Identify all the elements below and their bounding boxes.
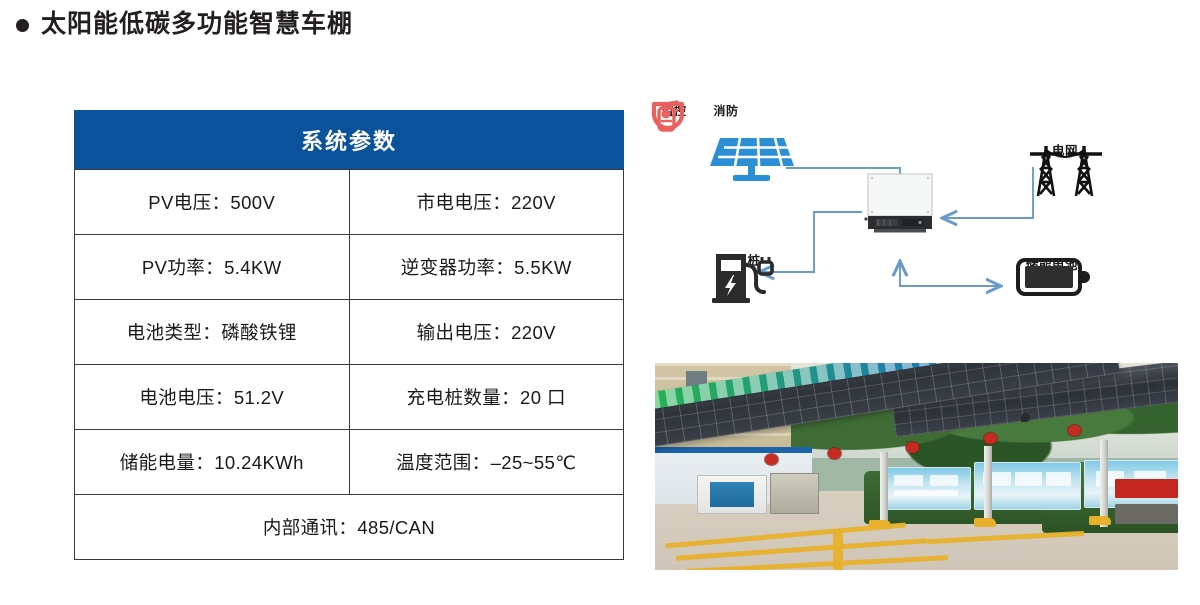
diagram-node-grid: 电网: [1020, 138, 1110, 159]
inverter-cabinet-icon: [860, 172, 940, 238]
solar-panel-icon: [702, 132, 802, 188]
fire-extinguisher-icon: [650, 100, 686, 132]
photo-post: [984, 446, 992, 525]
page-title-text: 太阳能低碳多功能智慧车棚: [41, 12, 353, 37]
ev-charging-pile-icon: [698, 248, 784, 306]
param-pv-voltage: PV电压：500V: [75, 170, 350, 235]
solar-carport-photo: [655, 363, 1178, 570]
photo-post: [1100, 440, 1108, 527]
param-output-voltage: 输出电压：220V: [349, 300, 624, 365]
photo-wall-trim: [655, 447, 812, 453]
param-charger-count: 充电桩数量：20 口: [349, 365, 624, 430]
photo-cabinet: [770, 473, 819, 514]
photo-parking-stripe: [833, 529, 843, 570]
flow-battery-to-inverter: [900, 262, 1000, 286]
table-row: 储能电量：10.24KWh 温度范围：–25~55℃: [75, 430, 624, 495]
param-pv-power: PV功率：5.4KW: [75, 235, 350, 300]
table-row: 电池电压：51.2V 充电桩数量：20 口: [75, 365, 624, 430]
table-row: PV电压：500V 市电电压：220V: [75, 170, 624, 235]
table-header-title: 系统参数: [75, 111, 624, 170]
param-battery-type: 电池类型：磷酸铁锂: [75, 300, 350, 365]
photo-lantern: [828, 448, 841, 459]
table-header-row: 系统参数: [75, 111, 624, 170]
diagram-node-pv: 光伏阵列: [702, 132, 802, 153]
diagram-node-inverter: 光储一体机: [860, 172, 940, 193]
diagram-node-charger: 充电桩: [698, 248, 784, 269]
photo-post-base: [1089, 516, 1111, 525]
diagram-node-battery: 储能电池: [1002, 252, 1102, 273]
photo-parked-vehicles: [1115, 504, 1178, 525]
param-grid-voltage: 市电电压：220V: [349, 170, 624, 235]
page-title: 太阳能低碳多功能智慧车棚: [16, 12, 353, 37]
system-parameters-table: 系统参数 PV电压：500V 市电电压：220V PV功率：5.4KW 逆变器功…: [74, 110, 624, 560]
photo-info-board: [885, 467, 971, 510]
table-row: 电池类型：磷酸铁锂 输出电压：220V: [75, 300, 624, 365]
photo-lantern: [765, 454, 778, 465]
transmission-tower-icon: [1020, 138, 1110, 200]
photo-post: [880, 452, 888, 524]
table-row: PV功率：5.4KW 逆变器功率：5.5KW: [75, 235, 624, 300]
param-battery-voltage: 电池电压：51.2V: [75, 365, 350, 430]
photo-red-banner: [1115, 479, 1178, 498]
param-temperature-range: 温度范围：–25~55℃: [349, 430, 624, 495]
photo-post-base: [974, 518, 996, 527]
table-row-footer: 内部通讯：485/CAN: [75, 495, 624, 560]
photo-cabinet: [697, 475, 767, 514]
photo-lantern: [906, 442, 919, 453]
photo-camera: [1021, 413, 1030, 422]
param-internal-comm: 内部通讯：485/CAN: [75, 495, 624, 560]
bullet-icon: [16, 19, 29, 32]
system-flow-diagram: 光伏阵列 监控 消防: [650, 100, 1190, 350]
param-inverter-power: 逆变器功率：5.5KW: [349, 235, 624, 300]
param-storage-capacity: 储能电量：10.24KWh: [75, 430, 350, 495]
battery-icon: [1002, 252, 1102, 304]
